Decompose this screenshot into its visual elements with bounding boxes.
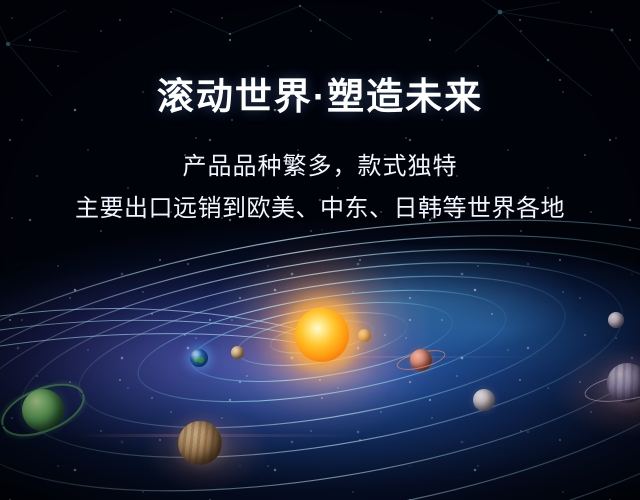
subtitle-line-2: 主要出口远销到欧美、中东、日韩等世界各地 xyxy=(0,193,640,225)
earth-planet xyxy=(190,349,208,367)
page-title: 滚动世界·塑造未来 xyxy=(0,74,640,119)
subtitle-line-1: 产品品种繁多，款式独特 xyxy=(0,151,640,183)
hero-text-block: 滚动世界·塑造未来 产品品种繁多，款式独特 主要出口远销到欧美、中东、日韩等世界… xyxy=(0,74,640,225)
space-hero-banner: 滚动世界·塑造未来 产品品种繁多，款式独特 主要出口远销到欧美、中东、日韩等世界… xyxy=(0,0,640,500)
pale-grey-planet xyxy=(473,389,495,411)
jupiter-planet xyxy=(178,421,222,465)
small-pale-planet xyxy=(608,312,624,328)
sun-core xyxy=(295,308,349,362)
